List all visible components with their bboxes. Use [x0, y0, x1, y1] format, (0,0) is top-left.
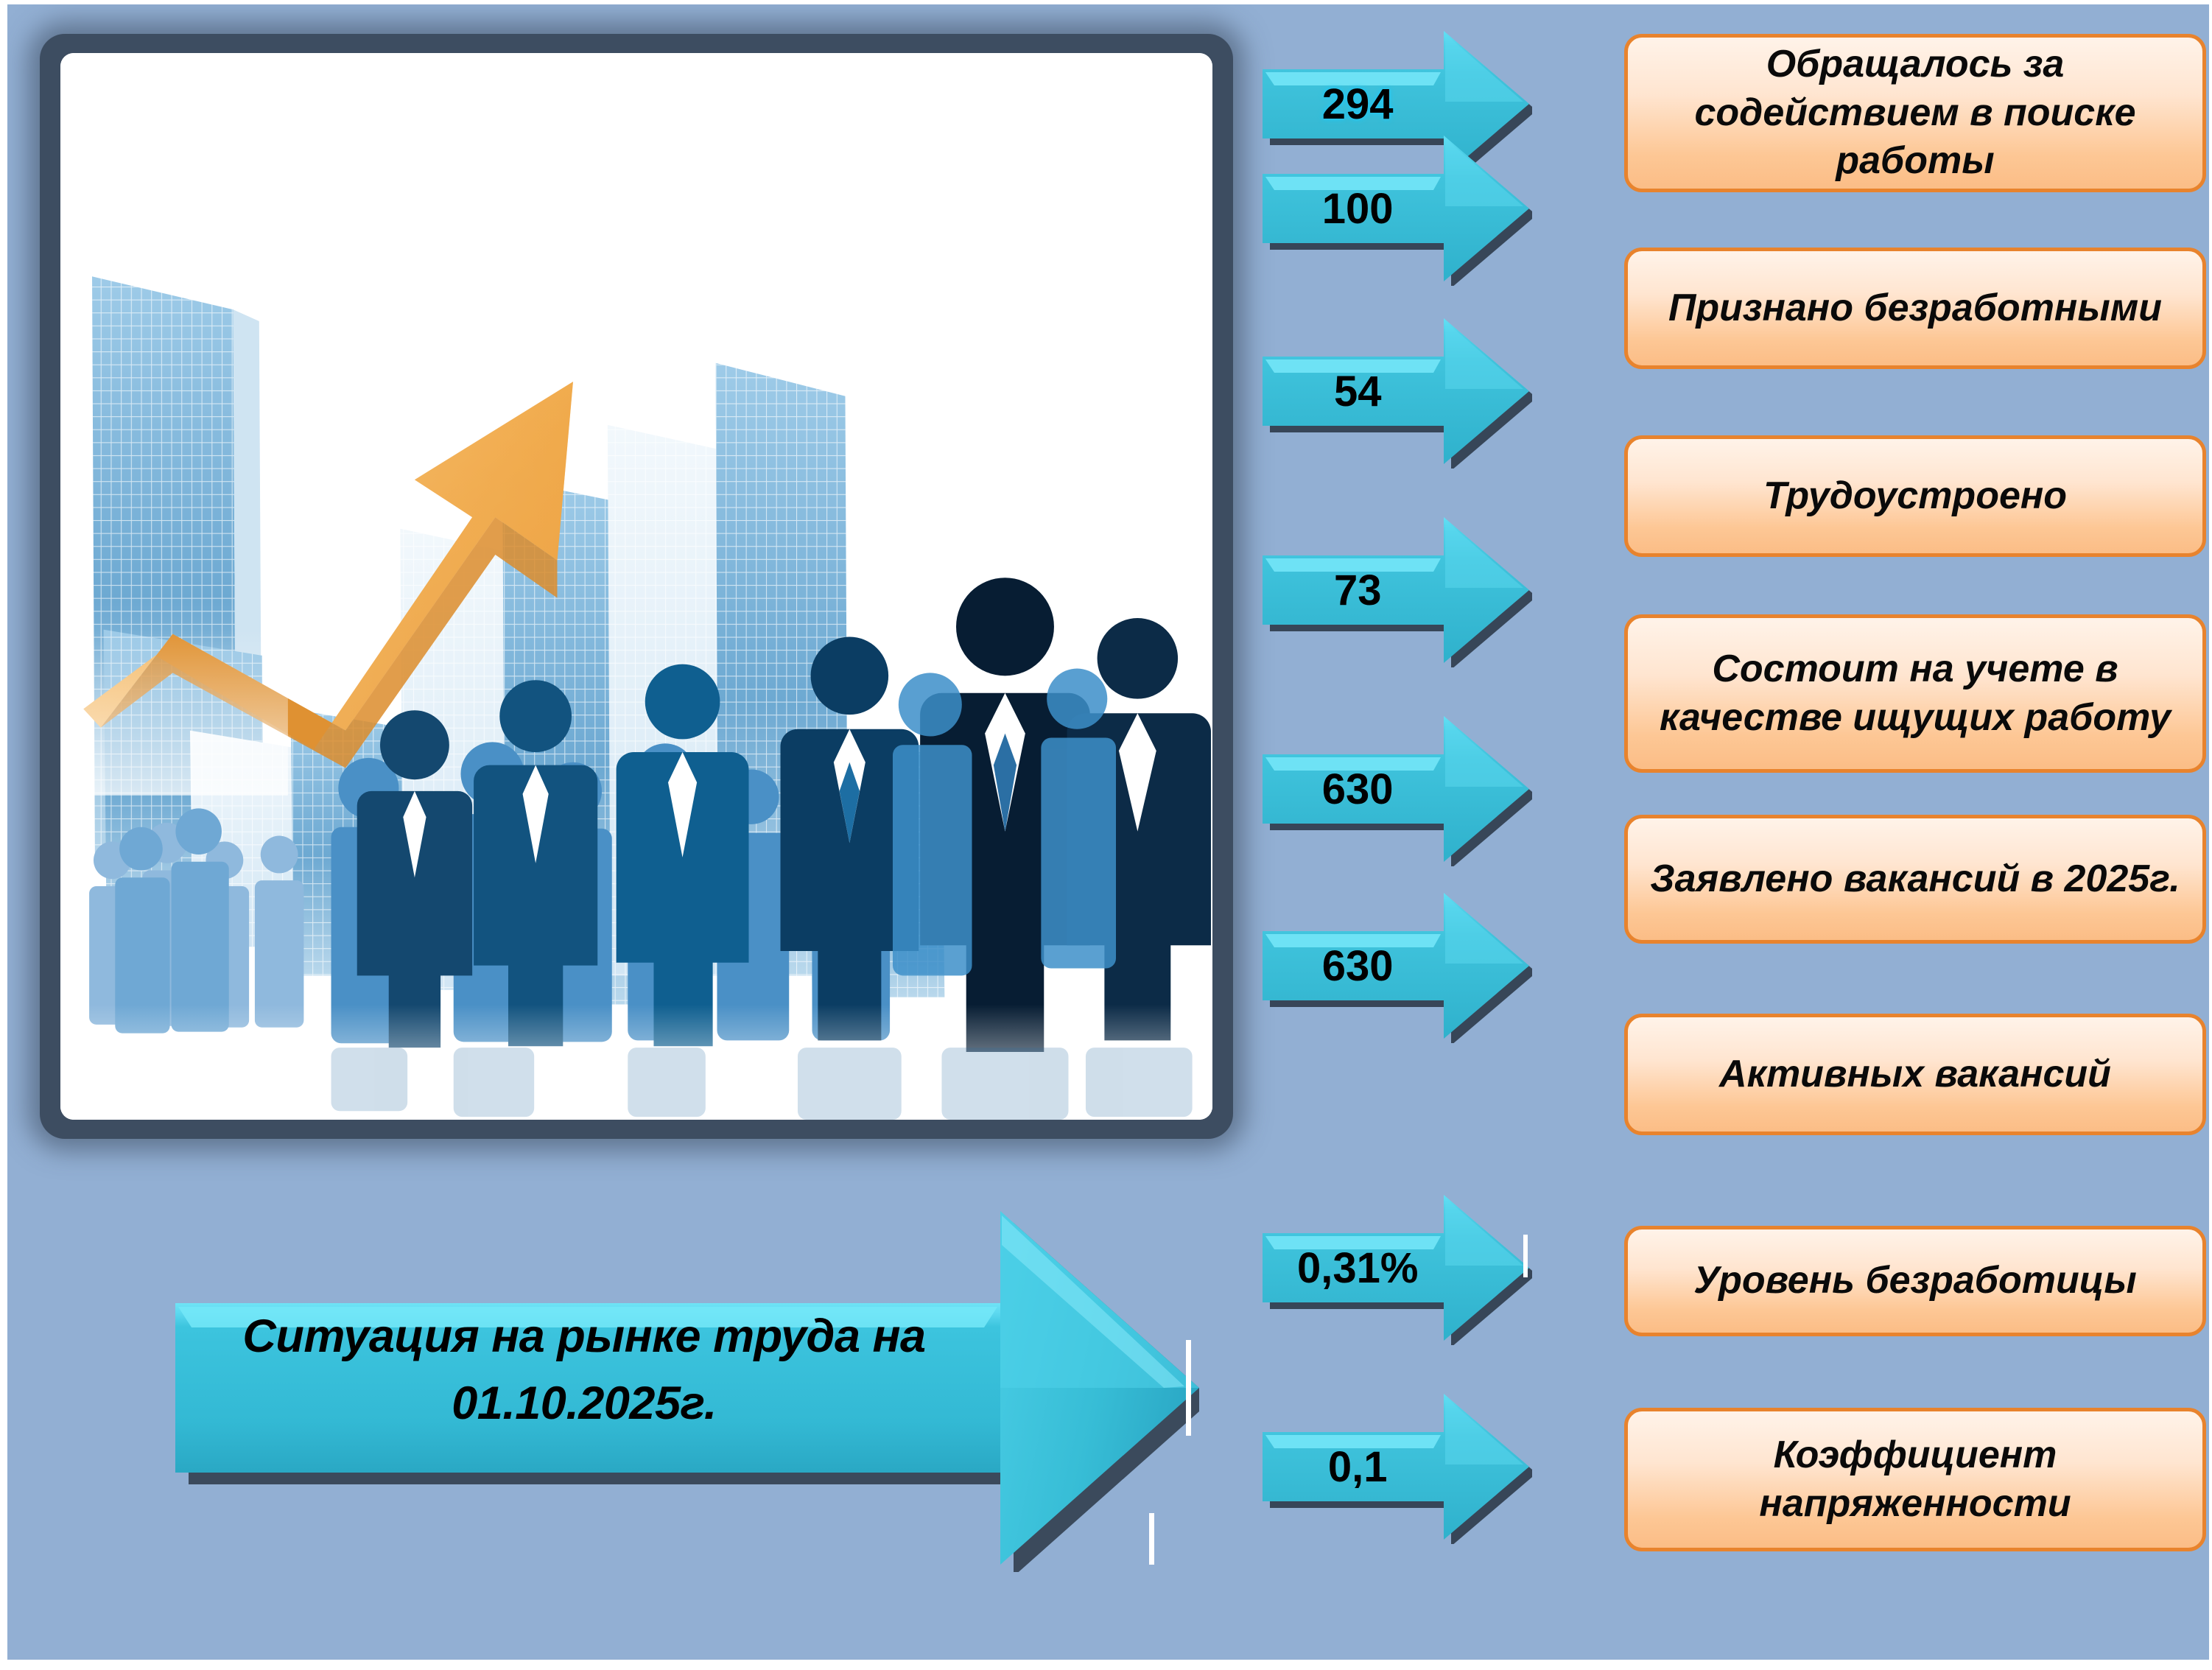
stat-value: 0,31%	[1260, 1190, 1456, 1345]
stat-label-box: Состоит на учете в качестве ищущих работ…	[1624, 614, 2206, 773]
stat-label: Обращалось за содействием в поиске работ…	[1647, 41, 2183, 186]
stat-label: Признано безработными	[1668, 284, 2162, 333]
stat-value: 100	[1260, 131, 1456, 286]
stat-arrow-630-active: 630	[1260, 888, 1532, 1043]
stat-arrow-54: 54	[1260, 314, 1532, 469]
stat-label: Заявлено вакансий в 2025г.	[1650, 855, 2180, 904]
stat-label-box: Обращалось за содействием в поиске работ…	[1624, 34, 2206, 192]
stat-label: Состоит на учете в качестве ищущих работ…	[1647, 645, 2183, 742]
stat-label: Уровень безработицы	[1693, 1257, 2137, 1305]
stat-value: 73	[1260, 513, 1456, 667]
stat-arrow-73: 73	[1260, 513, 1532, 667]
stat-value: 0,1	[1260, 1389, 1456, 1544]
stat-label-box: Уровень безработицы	[1624, 1226, 2206, 1336]
infographic-slide: Ситуация на рынке труда на 01.10.2025г. …	[0, 0, 2212, 1670]
photo-illustration	[60, 53, 1212, 1120]
stat-label: Коэффициент напряженности	[1647, 1431, 2183, 1528]
stat-label-box: Коэффициент напряженности	[1624, 1408, 2206, 1551]
stat-label-box: Признано безработными	[1624, 248, 2206, 369]
stat-arrow-tension-coefficient: 0,1	[1260, 1389, 1532, 1544]
stat-label-box: Трудоустроено	[1624, 435, 2206, 557]
stat-label-box: Заявлено вакансий в 2025г.	[1624, 815, 2206, 944]
stat-value: 630	[1260, 712, 1456, 866]
stat-value: 54	[1260, 314, 1456, 469]
title-arrow: Ситуация на рынке труда на 01.10.2025г.	[153, 1204, 1199, 1572]
title-line-1: Ситуация на рынке труда на	[175, 1303, 993, 1370]
labour-market-photo-frame	[40, 34, 1233, 1139]
stat-label: Активных вакансий	[1719, 1050, 2111, 1099]
title-line-2: 01.10.2025г.	[175, 1370, 993, 1437]
stat-value: 630	[1260, 888, 1456, 1043]
title-arrow-text: Ситуация на рынке труда на 01.10.2025г.	[175, 1303, 993, 1438]
stat-arrow-630-declared: 630	[1260, 712, 1532, 866]
stat-arrow-100: 100	[1260, 131, 1532, 286]
stat-label-box: Активных вакансий	[1624, 1014, 2206, 1135]
stat-label: Трудоустроено	[1763, 472, 2067, 521]
labour-market-photo	[60, 53, 1212, 1120]
stat-arrow-unemployment-rate: 0,31%	[1260, 1190, 1532, 1345]
